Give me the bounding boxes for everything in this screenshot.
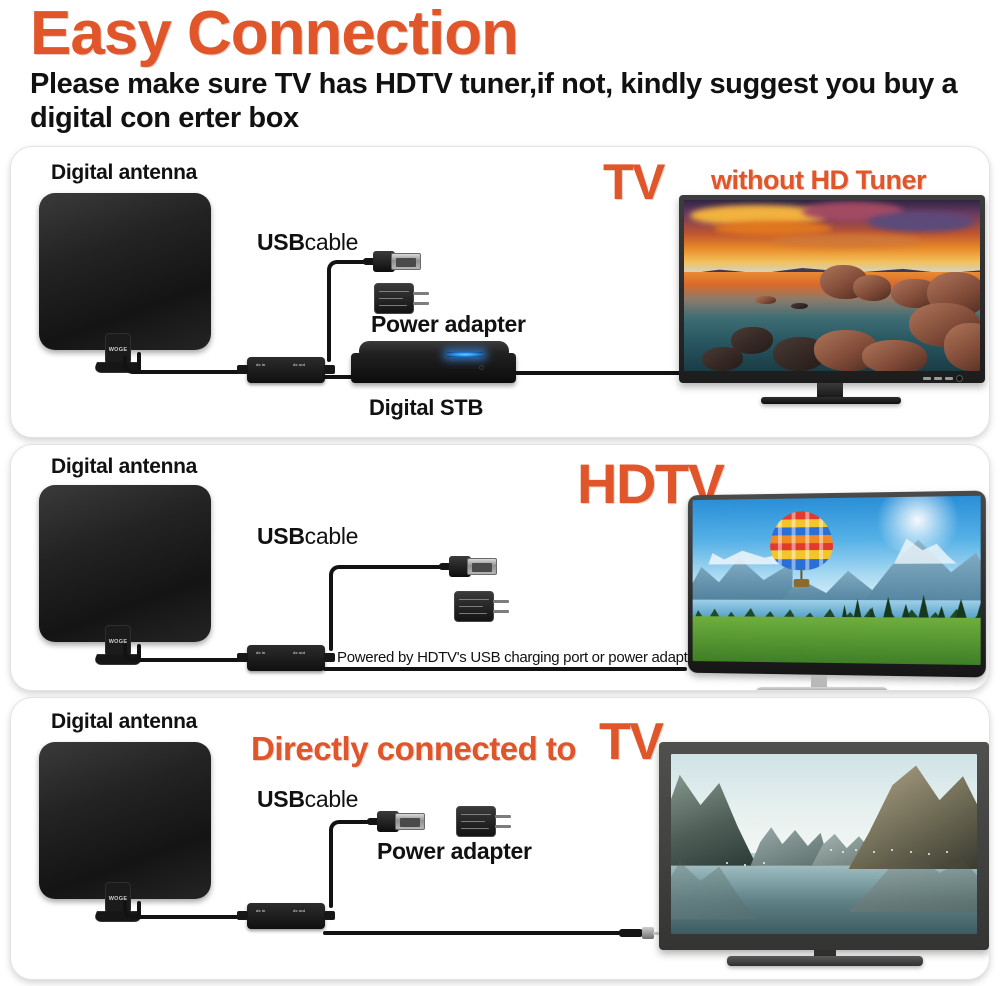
digital-antenna: WOGE xyxy=(39,193,211,350)
signal-amplifier: dc in dc out xyxy=(247,357,325,383)
antenna-label: Digital antenna xyxy=(51,710,197,734)
page-title: Easy Connection xyxy=(30,2,1000,65)
page-subtitle: Please make sure TV has HDTV tuner,if no… xyxy=(30,67,980,135)
antenna-cable-h xyxy=(139,370,249,374)
panel3-heading-text: Directly connected to xyxy=(251,730,576,768)
tv-base xyxy=(761,397,901,404)
digital-antenna: WOGE xyxy=(39,742,211,899)
digital-set-top-box xyxy=(351,341,516,385)
panel3-heading-big: TV xyxy=(599,712,662,772)
panel1-heading-small: without HD Tuner xyxy=(711,165,926,196)
curved-hdtv xyxy=(688,491,986,678)
usb-plug xyxy=(439,556,497,577)
tv-base xyxy=(756,687,889,691)
usb-cable-vertical xyxy=(327,270,331,362)
usb-cable-label: USBcable xyxy=(257,229,358,256)
tv-screen-fjord xyxy=(671,754,977,934)
tv-base xyxy=(727,956,923,966)
usb-cable-label: USBcable xyxy=(257,786,358,813)
amp-to-tv-cable xyxy=(323,667,687,671)
usb-cable-vertical xyxy=(329,575,333,651)
stb-to-tv-cable xyxy=(511,371,687,375)
tv-control-panel xyxy=(923,376,975,381)
antenna-cable-h xyxy=(139,658,249,662)
usb-plug xyxy=(367,811,425,832)
tv-without-tuner xyxy=(679,195,985,383)
signal-amplifier: dc in dc out xyxy=(247,903,325,929)
antenna-cable-h xyxy=(139,915,249,919)
stb-label: Digital STB xyxy=(369,395,483,421)
power-adapter xyxy=(456,806,496,837)
panel1-heading-big: TV xyxy=(603,153,664,211)
tv-screen-sunset-lake xyxy=(684,200,980,371)
diagram-panel-direct-to-tv: Digital antenna WOGE dc in dc out Direct… xyxy=(10,697,990,980)
coax-connector xyxy=(619,927,661,939)
signal-amplifier: dc in dc out xyxy=(247,645,325,671)
power-adapter-label: Power adapter xyxy=(377,838,532,865)
usb-cable-vertical xyxy=(329,830,333,908)
power-adapter xyxy=(374,283,414,314)
power-adapter xyxy=(454,591,494,622)
tv-screen-balloon xyxy=(693,496,981,665)
tv-neck xyxy=(817,383,843,397)
amp-to-tv-coax-cable xyxy=(323,931,623,935)
header: Easy Connection Please make sure TV has … xyxy=(0,0,1000,136)
diagram-panel-hdtv: Digital antenna WOGE dc in dc out USBcab… xyxy=(10,444,990,691)
power-note-label: Powered by HDTV's USB charging port or p… xyxy=(337,649,700,666)
usb-plug xyxy=(363,251,421,272)
power-adapter-label: Power adapter xyxy=(371,311,526,338)
digital-antenna: WOGE xyxy=(39,485,211,642)
hot-air-balloon xyxy=(770,511,833,587)
antenna-label: Digital antenna xyxy=(51,455,197,479)
usb-cable-horizontal xyxy=(343,565,443,569)
antenna-label: Digital antenna xyxy=(51,161,197,185)
usb-cable-label: USBcable xyxy=(257,523,358,550)
tv-direct xyxy=(659,742,989,950)
diagram-panel-tv-without-tuner: Digital antenna WOGE dc in dc out USBcab… xyxy=(10,146,990,438)
